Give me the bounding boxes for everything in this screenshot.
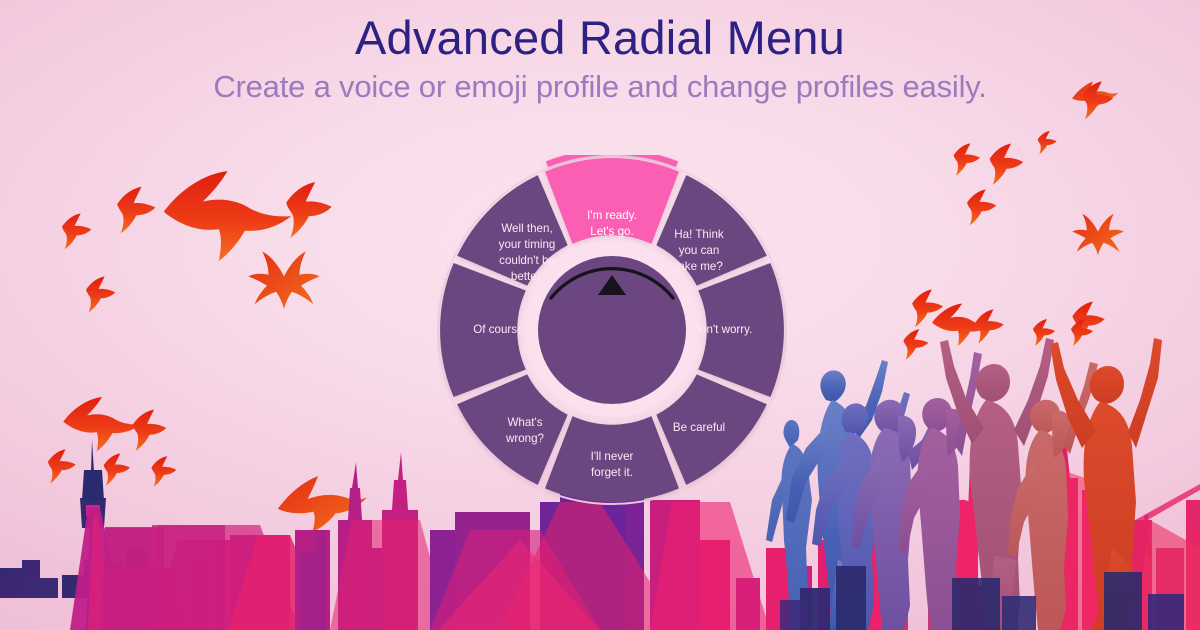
person-silhouette [852, 400, 944, 630]
person-silhouette [812, 392, 910, 630]
person-silhouette [786, 360, 888, 630]
person-silhouette [940, 338, 1054, 630]
promo-banner: I'm ready. Let's go. Ha! Think you can t… [0, 0, 1200, 630]
svg-text:take me?: take me? [675, 260, 723, 273]
svg-text:Let's go.: Let's go. [590, 225, 633, 238]
page-title: Advanced Radial Menu [0, 12, 1200, 64]
svg-text:Don't worry.: Don't worry. [692, 323, 753, 336]
svg-text:Of course.: Of course. [473, 323, 526, 336]
person-silhouette [1008, 362, 1098, 630]
svg-text:forget it.: forget it. [591, 466, 633, 479]
radial-segment-4-label: Be careful [673, 421, 725, 434]
svg-text:Ha! Think: Ha! Think [674, 228, 724, 241]
svg-text:I'm ready.: I'm ready. [587, 209, 637, 222]
radial-menu[interactable]: I'm ready. Let's go. Ha! Think you can t… [437, 155, 787, 505]
page-subtitle: Create a voice or emoji profile and chan… [0, 70, 1200, 104]
person-silhouette [1050, 338, 1162, 630]
svg-text:What's: What's [507, 416, 542, 429]
svg-text:Be careful: Be careful [673, 421, 725, 434]
radial-segment-3-label: Don't worry. [692, 323, 753, 336]
svg-text:couldn't be: couldn't be [499, 254, 555, 267]
radial-segment-7-label: Of course. [473, 323, 526, 336]
person-silhouette [898, 352, 982, 630]
radial-segment-2-label: Ha! Think you can take me? [674, 228, 724, 273]
svg-text:better.: better. [511, 270, 543, 283]
svg-text:you can: you can [679, 244, 720, 257]
svg-text:I'll never: I'll never [591, 450, 634, 463]
svg-text:your timing: your timing [499, 238, 556, 251]
svg-text:wrong?: wrong? [505, 432, 545, 445]
svg-text:Well then,: Well then, [501, 222, 552, 235]
header: Advanced Radial Menu Create a voice or e… [0, 0, 1200, 104]
